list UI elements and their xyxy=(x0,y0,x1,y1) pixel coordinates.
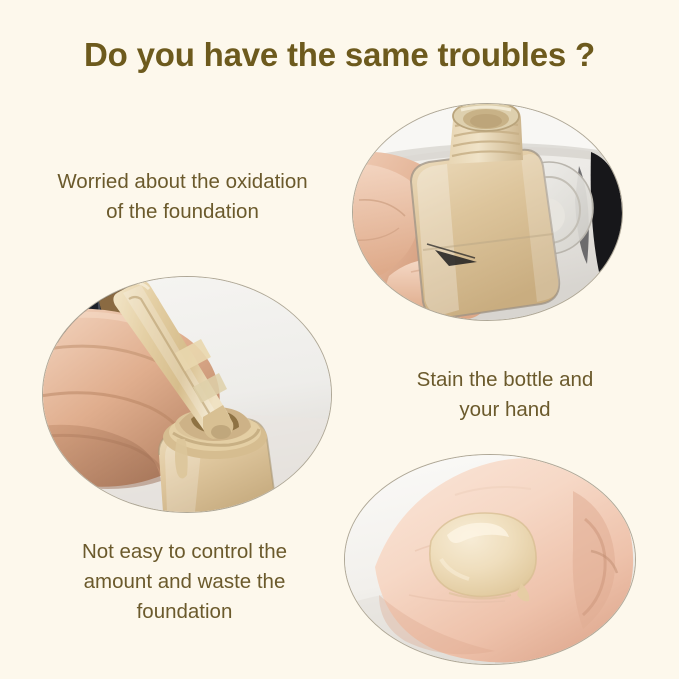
caption-oxidation: Worried about the oxidation of the found… xyxy=(10,167,355,227)
photo-foundation-blob-on-hand xyxy=(345,455,635,664)
photo-hand-holding-open-foundation-bottle xyxy=(353,104,622,320)
open-bottle-illustration xyxy=(353,104,622,320)
hand-swatch-illustration xyxy=(345,455,635,664)
caption-stain: Stain the bottle and your hand xyxy=(345,365,665,425)
photo-dropper-dripping-foundation xyxy=(43,277,331,512)
infographic-canvas: Do you have the same troubles ? Worried … xyxy=(0,0,679,679)
page-title: Do you have the same troubles ? xyxy=(0,36,679,74)
dropper-illustration xyxy=(43,277,331,512)
caption-waste: Not easy to control the amount and waste… xyxy=(12,537,357,627)
